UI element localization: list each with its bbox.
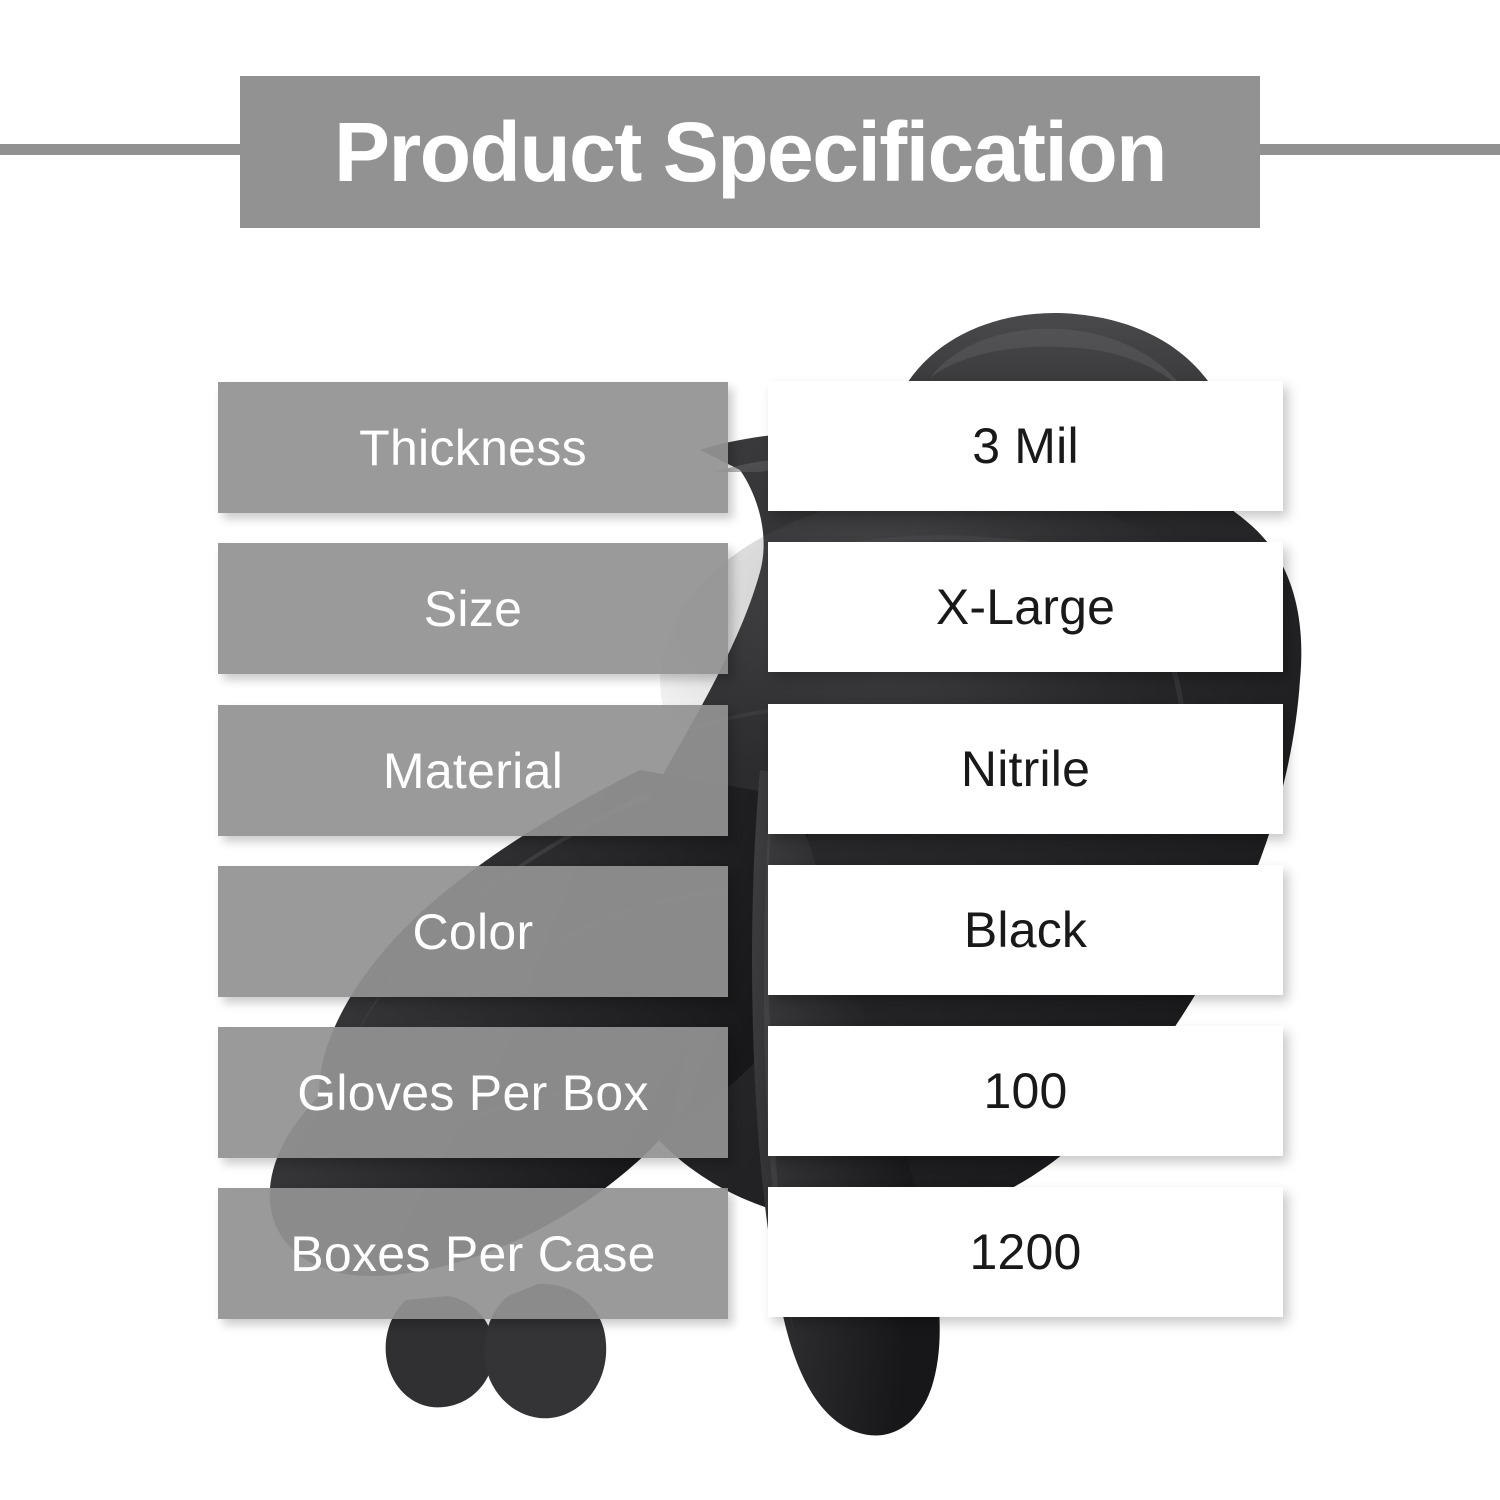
spec-value-cell: Black xyxy=(768,865,1283,995)
spec-value-cell: Nitrile xyxy=(768,704,1283,834)
spec-value-cell: 1200 xyxy=(768,1187,1283,1317)
spec-row-material: Material Nitrile xyxy=(218,705,1283,836)
spec-label-text: Gloves Per Box xyxy=(297,1068,649,1118)
spec-value-text: 3 Mil xyxy=(972,421,1079,471)
spec-label-text: Thickness xyxy=(359,423,587,473)
spec-row-color: Color Black xyxy=(218,866,1283,997)
spec-label-cell: Size xyxy=(218,543,728,674)
page-title: Product Specification xyxy=(334,110,1166,194)
spec-label-cell: Thickness xyxy=(218,382,728,513)
spec-value-text: Black xyxy=(964,905,1087,955)
spec-label-text: Color xyxy=(413,907,534,957)
spec-value-cell: X-Large xyxy=(768,542,1283,672)
spec-row-thickness: Thickness 3 Mil xyxy=(218,382,1283,513)
spec-label-text: Boxes Per Case xyxy=(290,1229,655,1279)
spec-row-size: Size X-Large xyxy=(218,543,1283,674)
spec-value-text: Nitrile xyxy=(961,744,1090,794)
spec-row-boxes-per-case: Boxes Per Case 1200 xyxy=(218,1188,1283,1319)
spec-value-cell: 3 Mil xyxy=(768,381,1283,511)
spec-value-text: X-Large xyxy=(936,582,1115,632)
spec-label-text: Size xyxy=(424,584,522,634)
spec-value-cell: 100 xyxy=(768,1026,1283,1156)
product-specification-page: Product Specification xyxy=(0,0,1500,1500)
spec-label-cell: Color xyxy=(218,866,728,997)
spec-label-text: Material xyxy=(383,746,563,796)
page-title-banner: Product Specification xyxy=(240,76,1260,228)
spec-label-cell: Boxes Per Case xyxy=(218,1188,728,1319)
spec-label-cell: Material xyxy=(218,705,728,836)
spec-label-cell: Gloves Per Box xyxy=(218,1027,728,1158)
spec-row-gloves-per-box: Gloves Per Box 100 xyxy=(218,1027,1283,1158)
spec-value-text: 1200 xyxy=(969,1227,1081,1277)
spec-value-text: 100 xyxy=(983,1066,1067,1116)
